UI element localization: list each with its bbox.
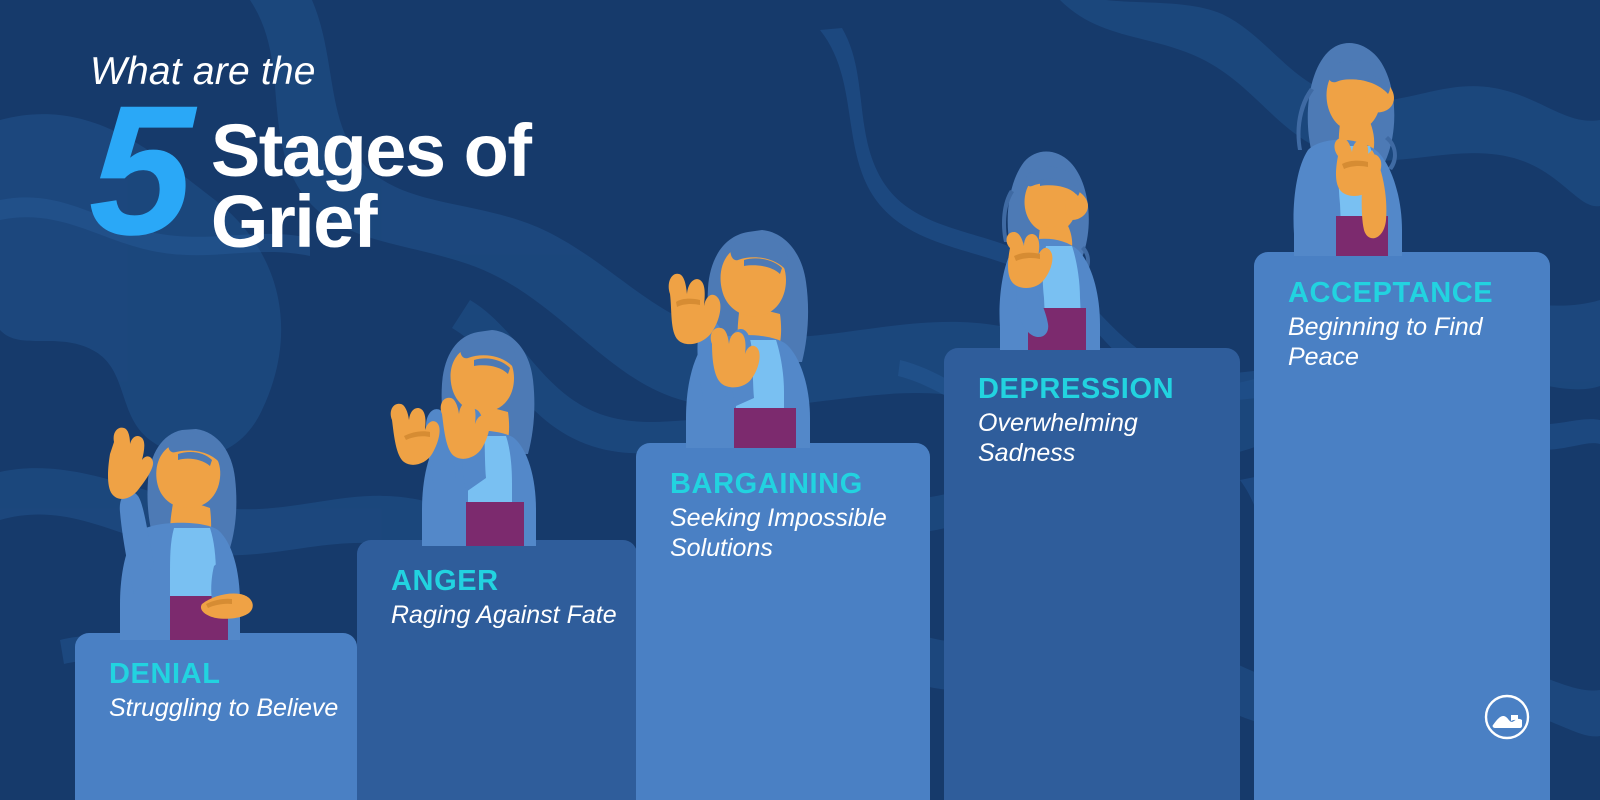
step-anger-title: ANGER: [391, 566, 637, 597]
step-denial-label: DENIAL Struggling to Believe: [109, 659, 357, 723]
big-number-five: 5: [87, 99, 189, 243]
step-denial-title: DENIAL: [109, 659, 357, 690]
headline-row: 5 Stages of Grief: [90, 99, 710, 257]
step-acceptance-label: ACCEPTANCE Beginning to Find Peace: [1288, 278, 1548, 372]
step-acceptance-title: ACCEPTANCE: [1288, 278, 1548, 309]
step-anger[interactable]: ANGER Raging Against Fate: [357, 540, 637, 800]
step-depression-subtitle: Overwhelming Sadness: [978, 408, 1238, 468]
step-depression-title: DEPRESSION: [978, 374, 1238, 405]
step-anger-subtitle: Raging Against Fate: [391, 600, 637, 630]
step-depression-label: DEPRESSION Overwhelming Sadness: [978, 374, 1238, 468]
step-denial-subtitle: Struggling to Believe: [109, 693, 357, 723]
figure-anger: [382, 318, 572, 546]
headline-line-1: Stages of: [211, 115, 531, 186]
title-block: What are the 5 Stages of Grief: [90, 52, 710, 257]
step-bargaining-subtitle: Seeking Impossible Solutions: [670, 503, 929, 563]
headline-line-2: Grief: [211, 186, 531, 257]
circular-mountain-logo-icon: [1484, 694, 1530, 740]
figure-acceptance: [1280, 32, 1420, 256]
figure-depression: [988, 128, 1116, 350]
step-bargaining-label: BARGAINING Seeking Impossible Solutions: [670, 469, 929, 563]
page-title: Stages of Grief: [211, 99, 531, 257]
step-bargaining-title: BARGAINING: [670, 469, 929, 500]
step-denial[interactable]: DENIAL Struggling to Believe: [75, 633, 357, 800]
step-acceptance-subtitle: Beginning to Find Peace: [1288, 312, 1548, 372]
step-depression[interactable]: DEPRESSION Overwhelming Sadness: [944, 348, 1240, 800]
step-bargaining[interactable]: BARGAINING Seeking Impossible Solutions: [636, 443, 930, 800]
infographic-canvas: What are the 5 Stages of Grief: [0, 0, 1600, 800]
figure-denial: [78, 408, 278, 640]
step-anger-label: ANGER Raging Against Fate: [391, 566, 637, 630]
